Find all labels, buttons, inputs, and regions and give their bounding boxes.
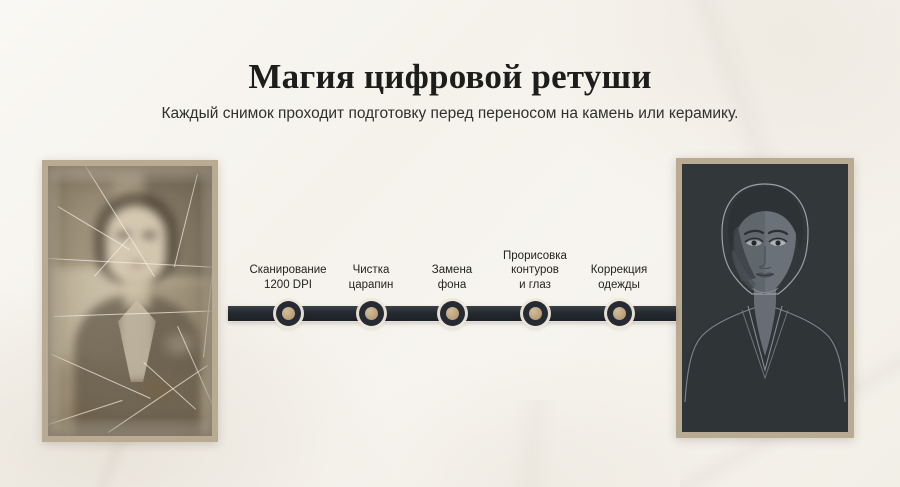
timeline-step-label-5: Коррекцияодежды (559, 263, 679, 292)
timeline-step-label-line: одежды (559, 278, 679, 293)
timeline-node-4[interactable] (523, 301, 548, 326)
after-frame-border (676, 158, 854, 438)
timeline-node-core (365, 307, 378, 320)
page-title: Магия цифровой ретуши (0, 56, 900, 98)
timeline-node-core (529, 307, 542, 320)
timeline-node-core (282, 307, 295, 320)
before-frame-border (42, 160, 218, 442)
timeline-node-1[interactable] (276, 301, 301, 326)
slide-canvas: Магия цифровой ретуши Каждый снимок прох… (0, 0, 900, 487)
timeline-node-5[interactable] (607, 301, 632, 326)
timeline-node-core (613, 307, 626, 320)
timeline-node-core (446, 307, 459, 320)
timeline-step-label-line: Коррекция (559, 263, 679, 278)
process-timeline (228, 306, 676, 321)
before-photo-frame (42, 160, 218, 442)
timeline-node-2[interactable] (359, 301, 384, 326)
timeline-step-label-line: Прорисовка (475, 249, 595, 264)
timeline-node-3[interactable] (440, 301, 465, 326)
after-photo-frame (676, 158, 854, 438)
page-subtitle: Каждый снимок проходит подготовку перед … (0, 103, 900, 125)
